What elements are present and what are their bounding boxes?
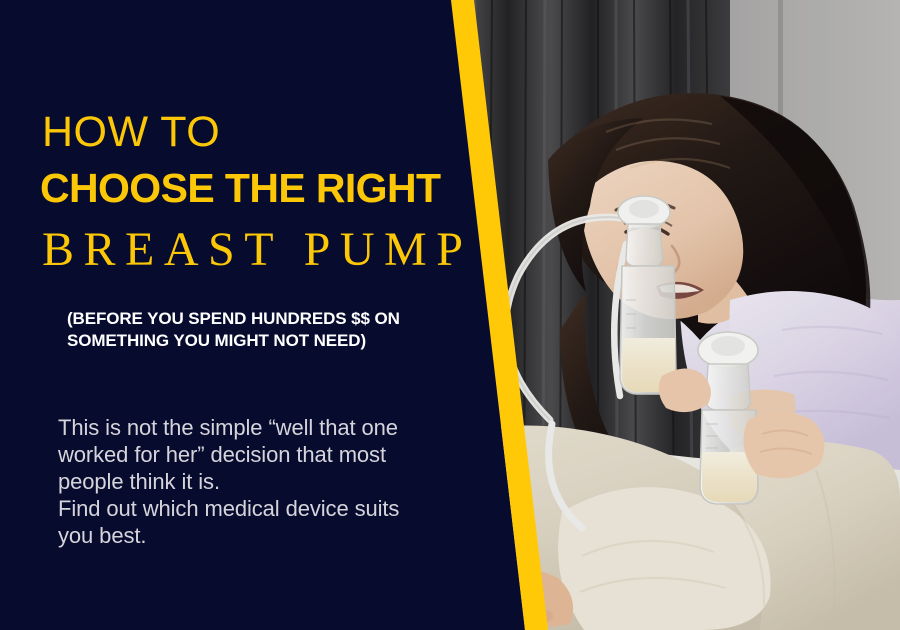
subheading: (BEFORE YOU SPEND HUNDREDS $$ ON SOMETHI…	[67, 308, 457, 352]
body-line-2: worked for her” decision that most	[58, 441, 458, 468]
body-line-5: you best.	[58, 522, 458, 549]
body-line-4: Find out which medical device suits	[58, 495, 458, 522]
headline-choose-the-right: CHOOSE THE RIGHT	[40, 168, 440, 209]
body-line-1: This is not the simple “well that one	[58, 414, 458, 441]
body-line-3: people think it is.	[58, 468, 458, 495]
headline-breast-pump: BREAST PUMP	[42, 226, 472, 274]
poster: HOW TO CHOOSE THE RIGHT BREAST PUMP (BEF…	[0, 0, 900, 630]
subheading-line-1: (BEFORE YOU SPEND HUNDREDS $$ ON	[67, 308, 457, 330]
text-content-block: HOW TO CHOOSE THE RIGHT BREAST PUMP (BEF…	[0, 0, 470, 630]
body-paragraph: This is not the simple “well that one wo…	[58, 414, 458, 549]
kicker-how-to: HOW TO	[42, 111, 220, 154]
subheading-line-2: SOMETHING YOU MIGHT NOT NEED)	[67, 330, 457, 352]
